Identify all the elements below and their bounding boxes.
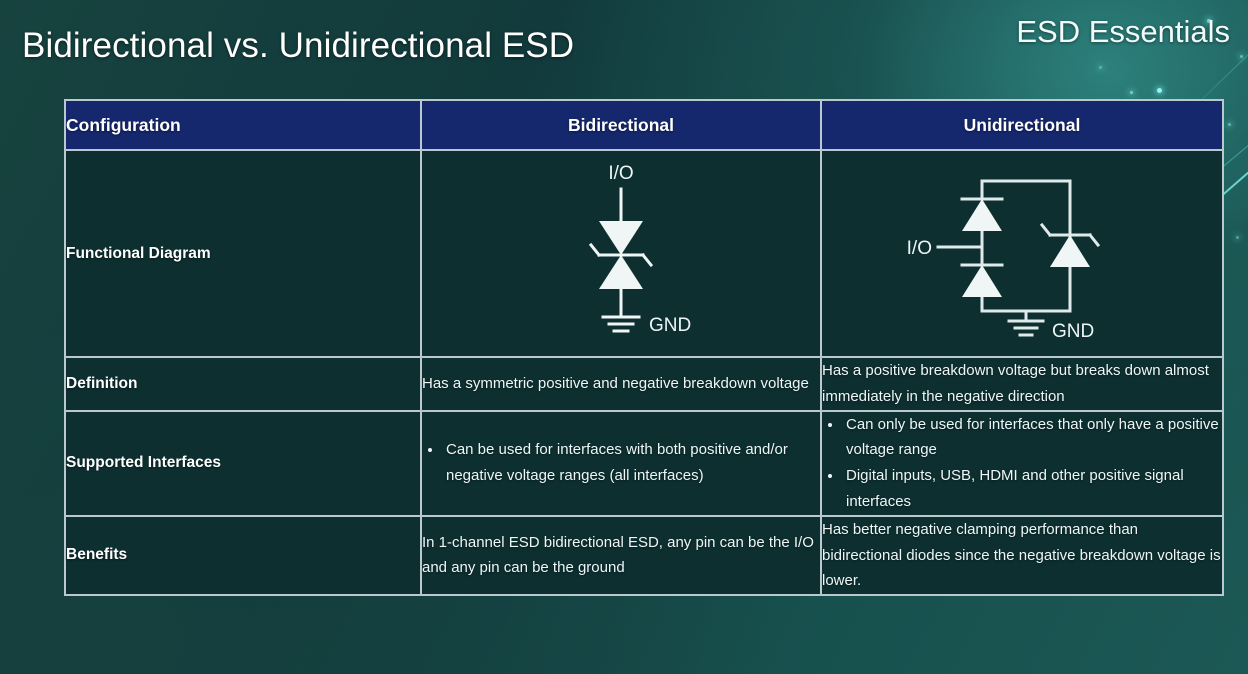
- sparkle-dot-icon: [1228, 123, 1231, 126]
- table-row: Supported Interfaces Can be used for int…: [65, 411, 1223, 516]
- table-header-row: Configuration Bidirectional Unidirection…: [65, 100, 1223, 150]
- column-header-configuration: Configuration: [65, 100, 421, 150]
- steering-diode-upper-icon: [962, 199, 1002, 231]
- table-body: Functional Diagram: [65, 150, 1223, 595]
- gnd-label: GND: [1052, 321, 1094, 342]
- diode-triangle-up-icon: [599, 255, 643, 289]
- bullet-list: Can be used for interfaces with both pos…: [422, 437, 820, 489]
- deck-label: ESD Essentials: [1016, 14, 1230, 50]
- column-header-unidirectional: Unidirectional: [821, 100, 1223, 150]
- list-item: Can be used for interfaces with both pos…: [422, 437, 820, 489]
- diode-triangle-down-icon: [599, 221, 643, 255]
- row-label-functional-diagram: Functional Diagram: [65, 150, 421, 357]
- column-header-bidirectional: Bidirectional: [421, 100, 821, 150]
- cell-bidirectional-interfaces: Can be used for interfaces with both pos…: [421, 411, 821, 516]
- io-label: I/O: [907, 238, 932, 259]
- gnd-label: GND: [649, 315, 691, 336]
- cell-unidirectional-benefits: Has better negative clamping performance…: [821, 516, 1223, 595]
- zener-diode-icon: [1050, 235, 1090, 267]
- steering-diode-lower-icon: [962, 265, 1002, 297]
- page-title: Bidirectional vs. Unidirectional ESD: [22, 26, 574, 66]
- cell-bidirectional-definition: Has a symmetric positive and negative br…: [421, 357, 821, 411]
- cell-unidirectional-diagram: I/O GND: [821, 150, 1223, 357]
- bidirectional-tvs-diode-schematic: I/O GND: [422, 151, 820, 356]
- cell-bidirectional-benefits: In 1-channel ESD bidirectional ESD, any …: [421, 516, 821, 595]
- table-head: Configuration Bidirectional Unidirection…: [65, 100, 1223, 150]
- slide-canvas: Bidirectional vs. Unidirectional ESD ESD…: [0, 0, 1248, 674]
- bidirectional-schematic-svg: I/O GND: [521, 159, 721, 349]
- row-label-benefits: Benefits: [65, 516, 421, 595]
- sparkle-dot-icon: [1236, 236, 1239, 239]
- list-item: Can only be used for interfaces that onl…: [822, 412, 1222, 464]
- comparison-table: Configuration Bidirectional Unidirection…: [64, 99, 1224, 596]
- title-bar: Bidirectional vs. Unidirectional ESD ESD…: [0, 0, 1248, 92]
- cell-unidirectional-definition: Has a positive breakdown voltage but bre…: [821, 357, 1223, 411]
- row-label-supported-interfaces: Supported Interfaces: [65, 411, 421, 516]
- list-item: Digital inputs, USB, HDMI and other posi…: [822, 463, 1222, 515]
- table-row: Definition Has a symmetric positive and …: [65, 357, 1223, 411]
- cell-unidirectional-interfaces: Can only be used for interfaces that onl…: [821, 411, 1223, 516]
- io-label: I/O: [608, 163, 633, 184]
- unidirectional-tvs-diode-schematic: I/O GND: [822, 151, 1222, 356]
- cell-bidirectional-diagram: I/O GND: [421, 150, 821, 357]
- table-row: Functional Diagram: [65, 150, 1223, 357]
- row-label-definition: Definition: [65, 357, 421, 411]
- unidirectional-schematic-svg: I/O GND: [892, 159, 1152, 349]
- table-row: Benefits In 1-channel ESD bidirectional …: [65, 516, 1223, 595]
- bullet-list: Can only be used for interfaces that onl…: [822, 412, 1222, 515]
